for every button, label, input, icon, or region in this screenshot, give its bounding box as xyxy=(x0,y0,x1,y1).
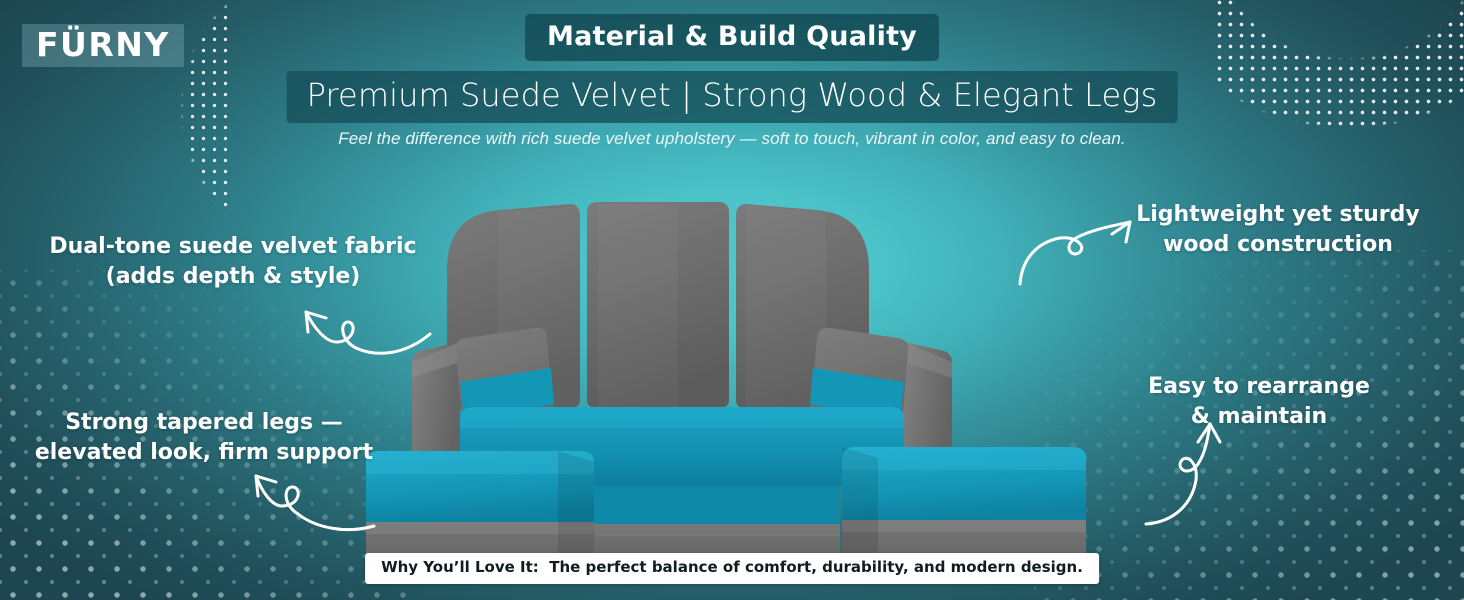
halftone-dots-top-right xyxy=(1214,0,1464,166)
brand-logo-text: FÜRNY xyxy=(36,28,170,61)
sofa-base xyxy=(584,524,840,556)
curved-arrow-up-icon xyxy=(1140,420,1250,530)
callout-wood: Lightweight yet sturdy wood construction xyxy=(1128,200,1428,260)
page-tagline: Feel the difference with rich suede velv… xyxy=(338,129,1125,149)
sofa-ottoman-right xyxy=(842,447,1086,556)
why-love-it-caption: Why You’ll Love It: The perfect balance … xyxy=(365,553,1099,584)
caption-body: The perfect balance of comfort, durabili… xyxy=(549,558,1083,576)
brand-logo[interactable]: FÜRNY xyxy=(22,24,184,67)
callout-fabric: Dual-tone suede velvet fabric (adds dept… xyxy=(28,232,438,292)
page-title: Material & Build Quality xyxy=(525,14,939,61)
callout-easy: Easy to rearrange & maintain xyxy=(1134,372,1384,432)
page-title-text: Material & Build Quality xyxy=(547,21,917,52)
caption-label: Why You’ll Love It: xyxy=(381,558,539,576)
product-image-sofa xyxy=(348,186,1108,556)
page-subtitle: Premium Suede Velvet | Strong Wood & Ele… xyxy=(287,71,1178,123)
page-subtitle-text: Premium Suede Velvet | Strong Wood & Ele… xyxy=(307,76,1158,114)
sofa-ottoman-left xyxy=(366,451,594,556)
product-feature-banner: FÜRNY Material & Build Quality Premium S… xyxy=(0,0,1464,600)
callout-legs: Strong tapered legs — elevated look, fir… xyxy=(16,408,392,468)
